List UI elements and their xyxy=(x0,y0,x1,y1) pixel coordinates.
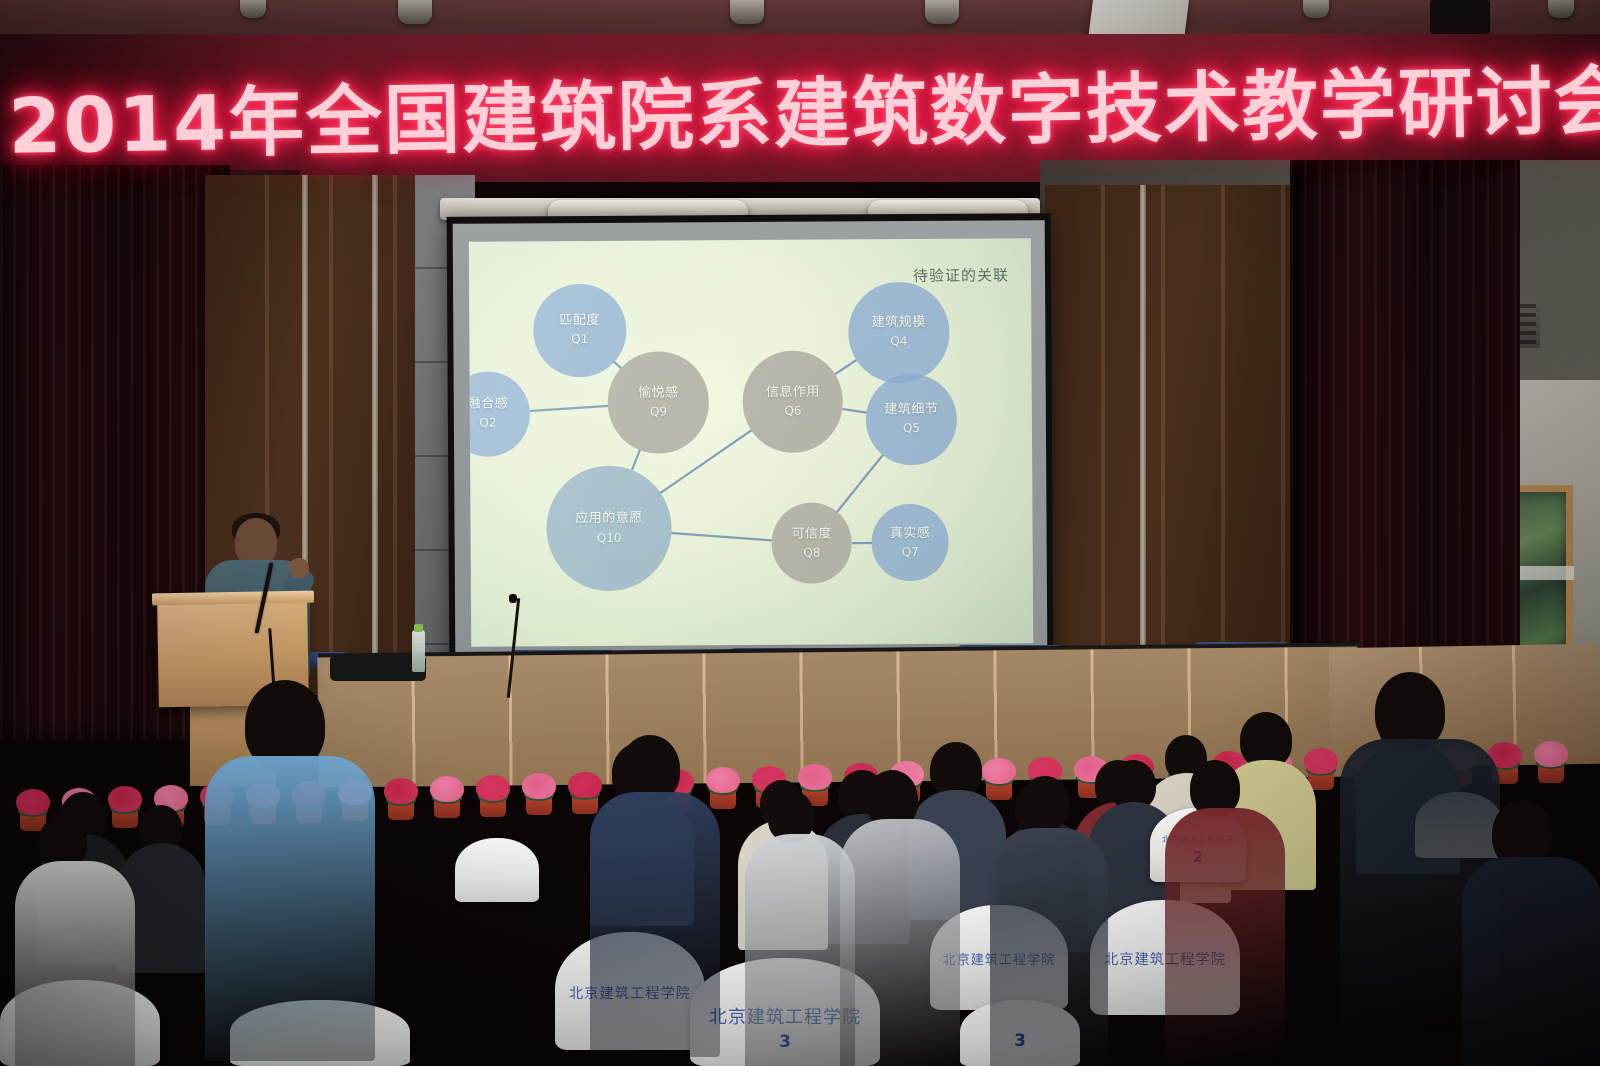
slide-edge xyxy=(530,406,608,411)
slide-node-q9: 愉悦感Q9 xyxy=(608,352,709,454)
stage-wood-panel-right xyxy=(1045,185,1305,685)
slide-node-label: 融合感 xyxy=(469,396,508,412)
slide-node-qid: Q9 xyxy=(650,405,667,420)
flower-bloom xyxy=(798,764,832,790)
flower-bloom xyxy=(16,789,50,815)
water-bottle-cap xyxy=(414,624,423,632)
slide-network-edges xyxy=(469,238,1033,646)
slide-node-qid: Q6 xyxy=(784,404,801,419)
slide-edge xyxy=(837,455,884,512)
water-bottle xyxy=(412,630,425,672)
presenter-hand xyxy=(289,558,309,578)
slide-node-label: 可信度 xyxy=(791,526,832,542)
slide-edge xyxy=(614,361,622,368)
slide-node-q1: 匹配度Q1 xyxy=(533,283,626,377)
slide-edge xyxy=(660,430,752,493)
floor-microphone-head xyxy=(509,594,517,603)
slide-node-q6: 信息作用Q6 xyxy=(742,351,843,453)
slide-node-q10: 应用的意愿Q10 xyxy=(546,465,671,591)
flower-bloom xyxy=(568,772,602,798)
audience-body xyxy=(840,819,960,1066)
ceiling-spotlight xyxy=(240,0,266,18)
slide-node-q4: 建筑规模Q4 xyxy=(848,281,949,383)
slide-node-q7: 真实感Q7 xyxy=(872,504,949,581)
flower-bloom xyxy=(1304,748,1338,774)
audience-body xyxy=(205,756,375,1061)
audience-body xyxy=(15,861,135,1066)
slide-node-qid: Q8 xyxy=(803,545,820,560)
slide-edge xyxy=(671,532,772,541)
slide-node-q8: 可信度Q8 xyxy=(771,503,852,584)
slide-node-qid: Q4 xyxy=(890,334,907,349)
slide-edge xyxy=(835,360,857,374)
slide-node-label: 匹配度 xyxy=(559,313,600,329)
auditorium-photo: 2014年全国建筑院系建筑数字技术教学研讨会 待验证的关联 匹配度Q1融合感Q2… xyxy=(0,0,1600,1066)
chair-cover xyxy=(455,838,539,902)
slide-node-label: 真实感 xyxy=(890,526,931,542)
ceiling-spotlight xyxy=(925,0,959,24)
projection-screen-frame: 待验证的关联 匹配度Q1融合感Q2愉悦感Q9信息作用Q6建筑规模Q4建筑细节Q5… xyxy=(447,213,1054,667)
ceiling-spotlight xyxy=(398,0,432,24)
slide-node-qid: Q10 xyxy=(597,530,622,545)
slide-node-label: 愉悦感 xyxy=(638,385,679,401)
right-stage-curtain xyxy=(1290,160,1520,720)
ceiling-spotlight xyxy=(1303,0,1329,18)
audience-body xyxy=(990,828,1108,1066)
flower-bloom xyxy=(522,773,556,799)
slide-node-label: 信息作用 xyxy=(766,384,820,401)
slide-node-label: 应用的意愿 xyxy=(575,511,643,528)
flower-bloom xyxy=(384,778,418,804)
ceiling-spotlight xyxy=(730,0,764,24)
projection-screen-border: 待验证的关联 匹配度Q1融合感Q2愉悦感Q9信息作用Q6建筑规模Q4建筑细节Q5… xyxy=(453,220,1048,661)
audience-body xyxy=(745,834,855,1066)
slide-node-qid: Q7 xyxy=(902,545,919,560)
slide-network-nodes: 匹配度Q1融合感Q2愉悦感Q9信息作用Q6建筑规模Q4建筑细节Q5应用的意愿Q1… xyxy=(469,238,1033,646)
audience-body xyxy=(1165,808,1285,1058)
flower-bloom xyxy=(430,776,464,802)
slide-edge xyxy=(632,450,640,470)
wall-metal-strip xyxy=(1140,185,1146,685)
slide-node-q2: 融合感Q2 xyxy=(469,371,531,457)
audience-body xyxy=(590,792,720,1057)
slide-node-qid: Q5 xyxy=(903,421,920,436)
wall-metal-strip xyxy=(372,175,378,695)
flower-bloom xyxy=(706,767,740,793)
flower-bloom xyxy=(982,758,1016,784)
flower-bloom xyxy=(476,775,510,801)
slide-node-label: 建筑规模 xyxy=(872,315,926,332)
ceiling-spotlight xyxy=(1548,0,1574,18)
flower-bloom xyxy=(1534,741,1568,767)
slide-title: 待验证的关联 xyxy=(913,264,1009,286)
slide-node-label: 建筑细节 xyxy=(884,402,938,419)
ceiling-equipment-box xyxy=(1430,0,1490,34)
projection-screen-surface: 待验证的关联 匹配度Q1融合感Q2愉悦感Q9信息作用Q6建筑规模Q4建筑细节Q5… xyxy=(469,238,1033,646)
audience-body xyxy=(1462,857,1600,1066)
conference-banner-text: 2014年全国建筑院系建筑数字技术教学研讨会 xyxy=(104,41,1536,173)
flower-bloom xyxy=(108,786,142,812)
slide-node-qid: Q1 xyxy=(571,332,588,347)
slide-node-q5: 建筑细节Q5 xyxy=(866,373,957,465)
slide-edge xyxy=(843,409,867,413)
slide-node-qid: Q2 xyxy=(479,416,496,431)
